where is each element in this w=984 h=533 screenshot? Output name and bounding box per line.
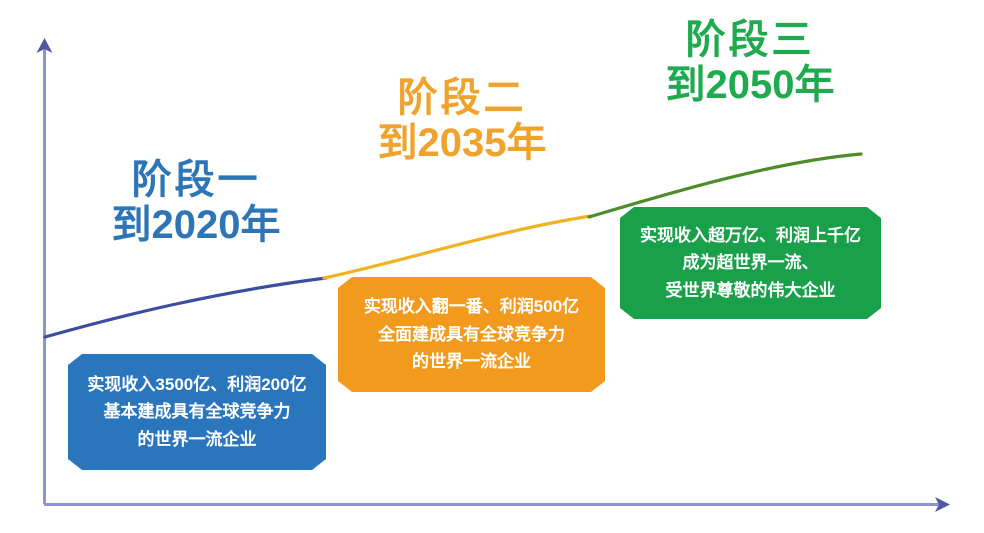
stage-roadmap-figure: 阶段一 到2020年 阶段二 到2035年 阶段三 到2050年 实现收入350… bbox=[0, 0, 984, 533]
curve-segment-stage-1 bbox=[45, 278, 326, 337]
stage-3-heading-line2: 到2050年 bbox=[640, 63, 860, 108]
stage-1-callout-line-3: 的世界一流企业 bbox=[138, 426, 257, 454]
curve-segment-stage-2 bbox=[324, 216, 591, 278]
stage-2-callout-line-3: 的世界一流企业 bbox=[412, 348, 531, 376]
stage-3-callout-line-1: 实现收入超万亿、利润上千亿 bbox=[640, 222, 861, 250]
stage-2-callout-box: 实现收入翻一番、利润500亿 全面建成具有全球竞争力 的世界一流企业 bbox=[338, 277, 605, 392]
stage-1-heading: 阶段一 到2020年 bbox=[86, 158, 306, 248]
stage-2-callout-line-2: 全面建成具有全球竞争力 bbox=[378, 321, 565, 349]
stage-3-heading: 阶段三 到2050年 bbox=[640, 18, 860, 108]
stage-2-heading: 阶段二 到2035年 bbox=[352, 76, 572, 166]
stage-2-callout-line-1: 实现收入翻一番、利润500亿 bbox=[364, 293, 579, 321]
stage-3-callout-line-2: 成为超世界一流、 bbox=[683, 249, 819, 277]
stage-1-callout-line-1: 实现收入3500亿、利润200亿 bbox=[87, 371, 306, 399]
stage-1-heading-line1: 阶段一 bbox=[86, 158, 306, 203]
stage-3-callout-line-3: 受世界尊敬的伟大企业 bbox=[666, 277, 836, 305]
stage-3-callout-box: 实现收入超万亿、利润上千亿 成为超世界一流、 受世界尊敬的伟大企业 bbox=[620, 207, 881, 319]
stage-2-heading-line1: 阶段二 bbox=[352, 76, 572, 121]
stage-1-callout-line-2: 基本建成具有全球竞争力 bbox=[104, 398, 291, 426]
stage-1-callout-box: 实现收入3500亿、利润200亿 基本建成具有全球竞争力 的世界一流企业 bbox=[68, 354, 326, 470]
stage-1-heading-line2: 到2020年 bbox=[86, 203, 306, 248]
stage-2-heading-line2: 到2035年 bbox=[352, 121, 572, 166]
stage-3-heading-line1: 阶段三 bbox=[640, 18, 860, 63]
